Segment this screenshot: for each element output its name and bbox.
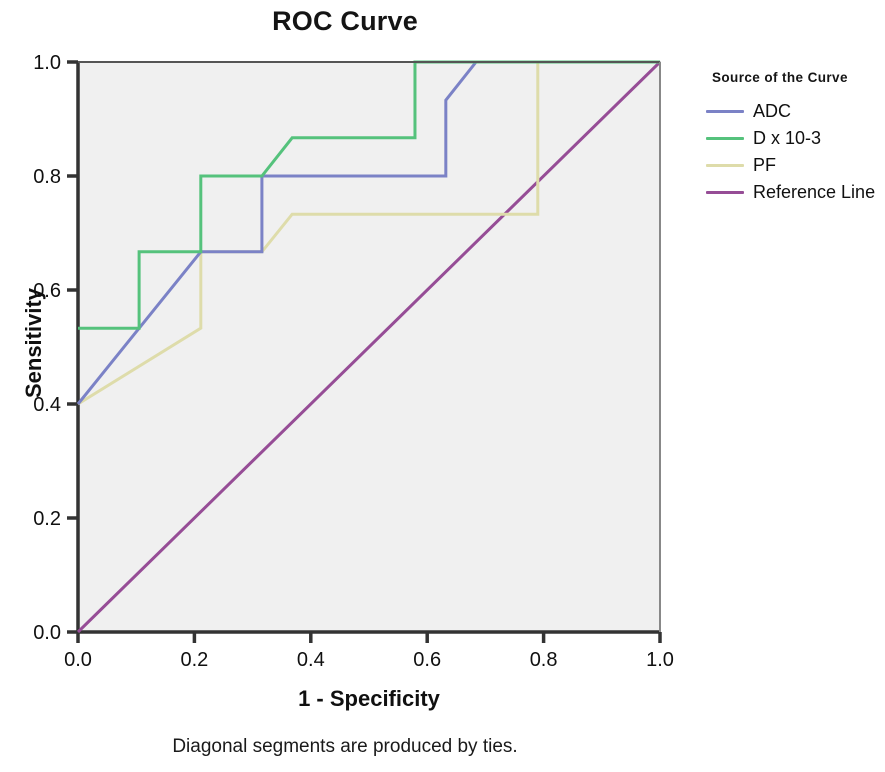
x-tick-label: 0.2 (180, 649, 208, 671)
x-tick-label: 0.8 (530, 649, 558, 671)
y-tick-label: 0.8 (33, 166, 61, 188)
legend-item-label: D x 10-3 (753, 128, 821, 149)
legend-item-list: ADCD x 10-3PFReference Line (706, 98, 881, 205)
legend: Source of the Curve ADCD x 10-3PFReferen… (706, 70, 881, 206)
x-tick-label: 0.6 (413, 649, 441, 671)
legend-item-label: Reference Line (753, 182, 875, 203)
y-tick-label: 0.2 (33, 508, 61, 530)
legend-item[interactable]: ADC (706, 98, 881, 124)
legend-swatch-line-icon (706, 137, 744, 140)
x-axis-title: 1 - Specificity (78, 686, 660, 712)
legend-item-label: PF (753, 155, 776, 176)
legend-item[interactable]: PF (706, 152, 881, 178)
chart-footnote: Diagonal segments are produced by ties. (0, 736, 690, 758)
x-tick-label: 0.4 (297, 649, 325, 671)
legend-item[interactable]: D x 10-3 (706, 125, 881, 151)
legend-item-label: ADC (753, 101, 791, 122)
legend-swatch-line-icon (706, 191, 744, 194)
legend-swatch-line-icon (706, 164, 744, 167)
y-axis-title: Sensitivity (21, 213, 47, 473)
legend-title: Source of the Curve (712, 70, 881, 85)
y-tick-label: 0.0 (33, 622, 61, 644)
legend-item[interactable]: Reference Line (706, 179, 881, 205)
plot-area: 0.00.20.40.60.81.00.00.20.40.60.81.0 (0, 0, 700, 680)
x-tick-label: 0.0 (64, 649, 92, 671)
legend-swatch-line-icon (706, 110, 744, 113)
roc-chart-figure: ROC Curve 0.00.20.40.60.81.00.00.20.40.6… (0, 0, 885, 772)
x-tick-label: 1.0 (646, 649, 674, 671)
y-tick-label: 1.0 (33, 52, 61, 74)
